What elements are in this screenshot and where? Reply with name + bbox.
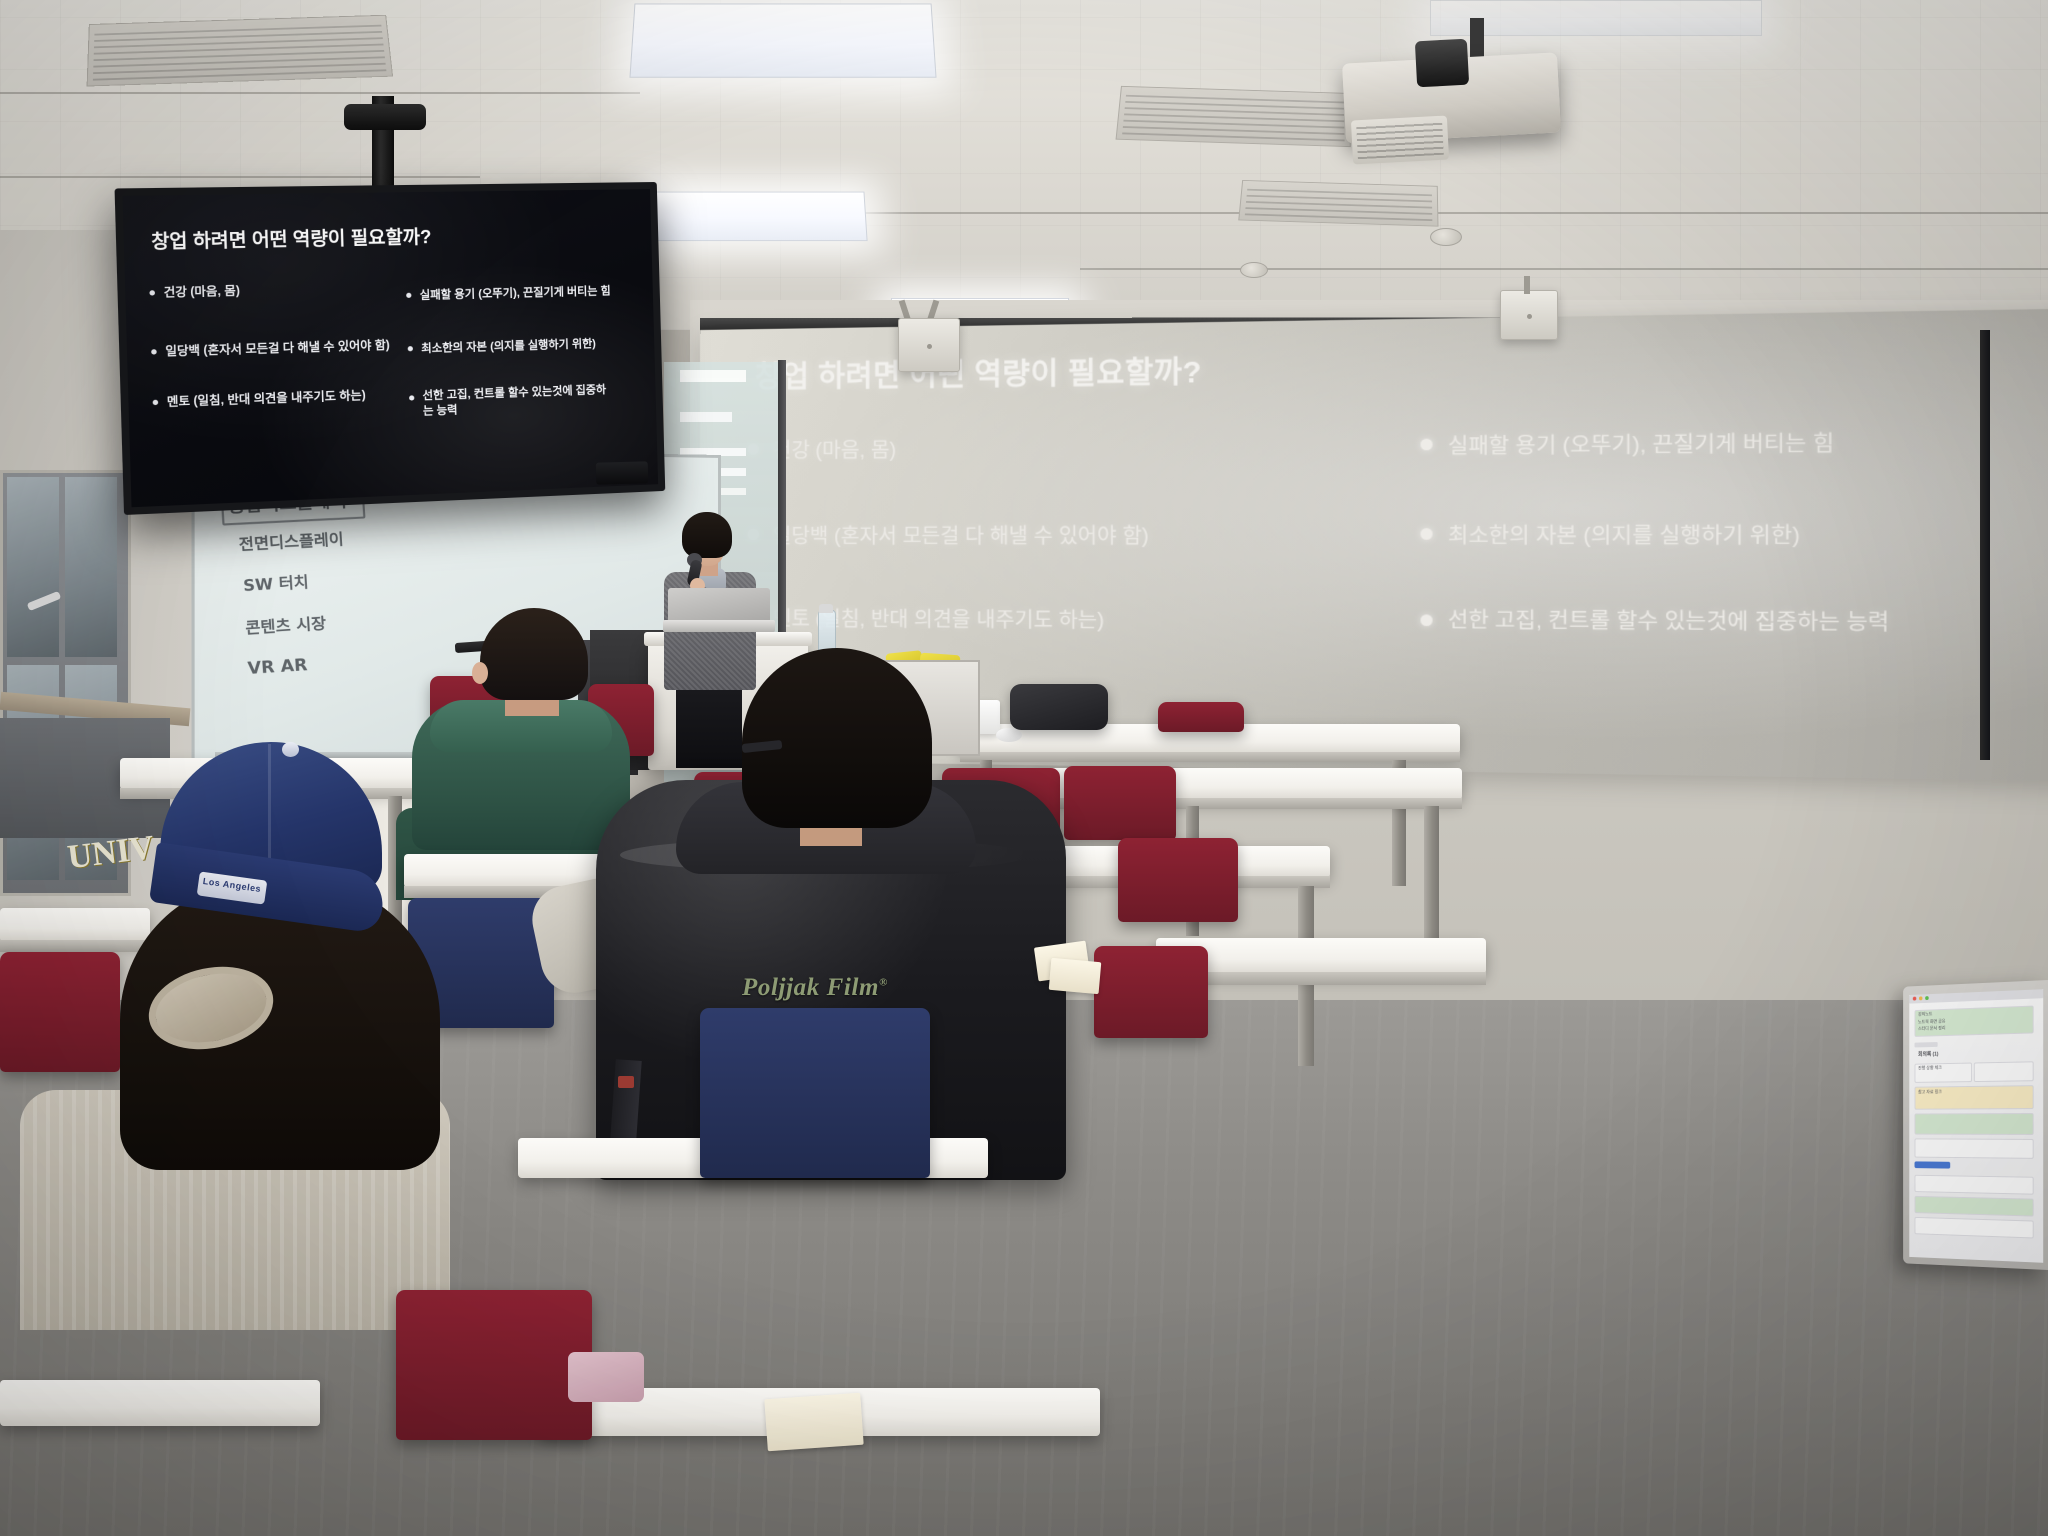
bottle-cap xyxy=(819,604,833,613)
chair[interactable] xyxy=(1118,838,1238,922)
note-card[interactable] xyxy=(1915,1138,2034,1158)
bullet-dot-icon xyxy=(1420,439,1432,451)
tv-bullet-text: 일당백 (혼자서 모든걸 다 해낼 수 있어야 함) xyxy=(165,336,390,359)
chair[interactable] xyxy=(700,1008,930,1178)
presenter-laptop-lid[interactable] xyxy=(668,588,770,622)
presenter-hair xyxy=(682,512,732,558)
bullet-dot-icon xyxy=(409,395,414,400)
tv-bullet-right-1: 실패할 용기 (오뚜기), 끈질기게 버티는 힘 xyxy=(406,282,611,303)
presenter-laptop-base[interactable] xyxy=(663,620,775,632)
presenter-legs xyxy=(676,686,742,768)
tv-mount-bracket xyxy=(344,104,426,130)
whiteboard-note: SW 터치 xyxy=(243,571,310,597)
desk xyxy=(0,1380,320,1426)
speaker-bracket xyxy=(1524,276,1530,294)
projected-bullet-right-3: 선한 고집, 컨트롤 할수 있는것에 집중하는 능력 xyxy=(1420,605,1896,640)
projected-bullet-right-1: 실패할 용기 (오뚜기), 끈질기게 버티는 힘 xyxy=(1420,424,2048,460)
ceiling-vent xyxy=(87,15,394,87)
bullet-dot-icon xyxy=(1420,614,1432,626)
chair[interactable] xyxy=(1158,702,1244,732)
cap-logo-label: UNIV xyxy=(66,833,155,873)
chair[interactable] xyxy=(0,952,120,1072)
cap-button xyxy=(282,742,299,757)
cap-side-logo: UNIV xyxy=(66,833,160,915)
ceiling-tile-line xyxy=(0,92,640,94)
projected-bullet-text: 일당백 (혼자서 모든걸 다 해낼 수 있어야 함) xyxy=(773,519,1149,549)
wall-speaker xyxy=(898,318,960,372)
chair[interactable] xyxy=(1094,946,1208,1038)
strap-tab xyxy=(618,1076,634,1088)
note-card[interactable] xyxy=(1915,1217,2034,1239)
tv-bullet-left-2: 일당백 (혼자서 모든걸 다 해낼 수 있어야 함) xyxy=(151,336,390,359)
partition-stripe xyxy=(680,370,746,382)
laptop-ui-bar xyxy=(1915,1042,1938,1047)
wall-speaker xyxy=(1500,290,1558,340)
chair[interactable] xyxy=(1064,766,1176,840)
projected-bullet-left-2: 일당백 (혼자서 모든걸 다 해낼 수 있어야 함) xyxy=(748,519,1309,549)
note-card[interactable] xyxy=(1974,1061,2034,1082)
bullet-dot-icon xyxy=(149,290,155,295)
tv-bullet-text: 최소한의 자본 (의지를 실행하기 위한) xyxy=(421,335,596,356)
tv-bullet-left-1: 건강 (마음, 몸) xyxy=(149,282,240,301)
note-card[interactable] xyxy=(1915,1196,2034,1217)
projected-bullet-text: 선한 고집, 컨트롤 할수 있는것에 집중하는 능력 xyxy=(1448,605,1889,639)
tv-bullet-text: 건강 (마음, 몸) xyxy=(163,282,240,300)
note-card[interactable] xyxy=(1915,1175,2034,1195)
desk-edge xyxy=(0,940,150,952)
tv-bullet-left-3: 멘토 (일침, 반대 의견을 내주기도 하는) xyxy=(152,387,365,411)
whiteboard-note: 전면디스플레이 xyxy=(238,528,344,555)
tv-bullet-text: 선한 고집, 컨트롤 할수 있는것에 집중하는 능력 xyxy=(422,383,613,420)
registered-mark-icon: ® xyxy=(879,977,888,989)
pink-item xyxy=(568,1352,644,1402)
projected-bullet-right-2: 최소한의 자본 (의지를 실행하기 위한) xyxy=(1420,517,2048,549)
tv-bottom-bracket xyxy=(596,461,649,484)
laptop-line: 참고 자료 링크 xyxy=(1918,1089,1942,1095)
projected-bullet-text: 최소한의 자본 (의지를 실행하기 위한) xyxy=(1448,518,1800,549)
projection-screen-edge xyxy=(1980,330,1990,760)
projected-bullet-left-1: 건강 (마음, 몸) xyxy=(748,431,1181,464)
laptop-line: 진행 상황 체크 xyxy=(1918,1065,1942,1071)
chair[interactable] xyxy=(396,1290,592,1440)
whiteboard-note: VR AR xyxy=(247,654,308,678)
laptop-screen[interactable]: 강의노트 노트북 화면 공유 스터디 문서 정리 회의록 (1) 진행 상황 체… xyxy=(1909,989,2043,1263)
laptop-titlebar xyxy=(1909,989,2043,1003)
partition-stripe xyxy=(680,412,732,422)
student-laptop[interactable]: 강의노트 노트북 화면 공유 스터디 문서 정리 회의록 (1) 진행 상황 체… xyxy=(1903,980,2048,1270)
student-ear xyxy=(472,662,488,684)
tv-bullet-right-3: 선한 고집, 컨트롤 할수 있는것에 집중하는 능력 xyxy=(409,383,614,420)
laptop-action-button[interactable] xyxy=(1915,1161,1951,1168)
tv-screen: 창업 하려면 어떤 역량이 필요할까? 건강 (마음, 몸) 일당백 (혼자서 … xyxy=(122,189,658,507)
paper-sheet xyxy=(1049,958,1102,994)
desk-edge xyxy=(960,752,1460,762)
tv-bullet-right-2: 최소한의 자본 (의지를 실행하기 위한) xyxy=(407,335,596,357)
tv-bullet-text: 멘토 (일침, 반대 의견을 내주기도 하는) xyxy=(167,387,366,410)
ceiling-tile-line xyxy=(860,212,2048,214)
ceiling-vent xyxy=(1238,180,1438,227)
ceiling-tile-line xyxy=(0,176,480,178)
tv-slide-title: 창업 하려면 어떤 역량이 필요할까? xyxy=(151,223,432,255)
note-card[interactable] xyxy=(1915,1113,2034,1135)
ceiling-light-panel xyxy=(629,4,936,78)
paper-sheet xyxy=(764,1393,863,1452)
handbag xyxy=(1010,684,1108,730)
projected-bullet-text: 건강 (마음, 몸) xyxy=(773,433,896,463)
ceiling-vent xyxy=(1116,86,1351,147)
ceiling-tv-monitor: 창업 하려면 어떤 역량이 필요할까? 건강 (마음, 몸) 일당백 (혼자서 … xyxy=(115,182,666,515)
bullet-dot-icon xyxy=(408,346,413,351)
laptop-line: 노트북 화면 공유 xyxy=(1918,1019,1945,1026)
jacket-brand-text: Poljjak Film® xyxy=(742,974,982,1002)
jacket-brand-label: Poljjak Film xyxy=(742,974,879,1001)
classroom-photo: 창업 하려면 어떤 역량이 필요할까? 건강 (마음, 몸) 일당백 (혼자서 … xyxy=(0,0,2048,1536)
whiteboard-note: 콘텐츠 시장 xyxy=(245,612,327,639)
desk-leg xyxy=(1424,806,1439,958)
ceiling-light-panel xyxy=(646,192,867,241)
bullet-dot-icon xyxy=(151,349,157,354)
bullet-dot-icon xyxy=(153,400,159,405)
smoke-detector-icon xyxy=(1430,228,1462,246)
laptop-line: 회의록 (1) xyxy=(1918,1052,1938,1058)
projector-lens-icon xyxy=(1415,39,1469,88)
laptop-line: 스터디 문서 정리 xyxy=(1918,1025,1945,1032)
projector-vent xyxy=(1351,116,1449,165)
smoke-detector-icon xyxy=(1240,262,1268,278)
laptop-window-title: 강의노트 xyxy=(1918,1011,1932,1017)
ceiling-tile-line xyxy=(1080,268,2048,270)
bullet-dot-icon xyxy=(406,293,411,298)
projector-mount-arm xyxy=(1470,18,1484,60)
projected-bullet-text: 실패할 용기 (오뚜기), 끈질기게 버티는 힘 xyxy=(1448,426,1834,460)
tv-bullet-text: 실패할 용기 (오뚜기), 끈질기게 버티는 힘 xyxy=(419,282,610,303)
student-head xyxy=(742,648,932,828)
bullet-dot-icon xyxy=(1420,528,1432,540)
projected-slide-title: 창업 하려면 어떤 역량이 필요할까? xyxy=(755,348,1202,396)
computer-mouse[interactable] xyxy=(996,728,1022,742)
